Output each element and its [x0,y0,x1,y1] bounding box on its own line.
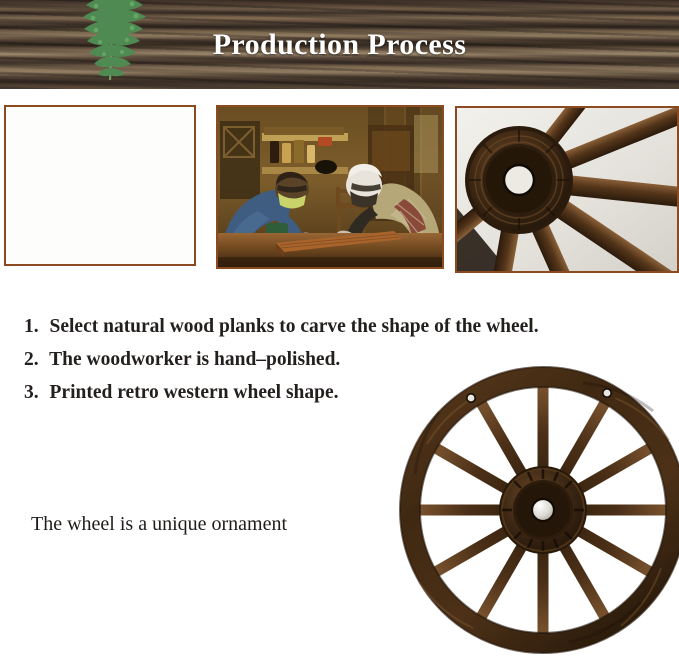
step-text: Printed retro western wheel shape. [50,382,339,403]
step-number: 2. [24,343,39,376]
workshop-illustration [218,107,442,267]
wheel-hub-closeup-photo [455,106,679,273]
list-item: 1. Select natural wood planks to carve t… [24,310,664,343]
step-number: 1. [24,310,39,343]
step-text: The woodworker is hand–polished. [49,349,340,370]
wagon-wheel-illustration [399,366,679,654]
stacked-wood-planks-photo [4,105,196,266]
page-title: Production Process [0,0,679,89]
wheel-caption: The wheel is a unique ornament [31,513,287,536]
hub-closeup-illustration [457,108,677,271]
step-number: 3. [24,376,39,409]
step-text: Select natural wood planks to carve the … [50,316,539,337]
woodworkers-workshop-photo [216,105,444,269]
header-banner: Production Process [0,0,679,89]
